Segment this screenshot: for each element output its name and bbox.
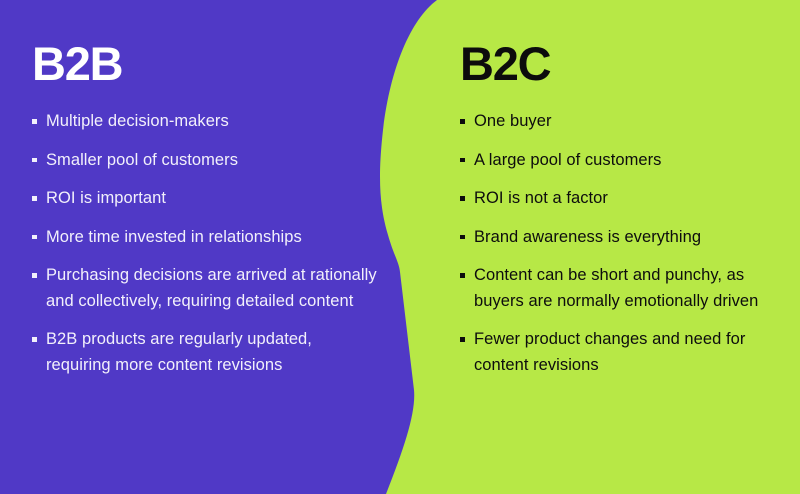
square-bullet-icon (32, 273, 37, 278)
list-item: Purchasing decisions are arrived at rati… (32, 263, 380, 314)
list-item: More time invested in relationships (32, 225, 380, 251)
list-item: Multiple decision-makers (32, 109, 380, 135)
b2b-panel: B2B Multiple decision-makers Smaller poo… (0, 0, 380, 494)
list-item-label: Multiple decision-makers (46, 112, 229, 130)
list-item: A large pool of customers (460, 148, 780, 174)
square-bullet-icon (32, 119, 37, 124)
list-item: One buyer (460, 109, 780, 135)
list-item-label: Content can be short and punchy, as buye… (474, 266, 758, 310)
list-item: Content can be short and punchy, as buye… (460, 263, 780, 314)
square-bullet-icon (460, 337, 465, 342)
list-item-label: Purchasing decisions are arrived at rati… (46, 266, 377, 310)
list-item: Smaller pool of customers (32, 148, 380, 174)
list-item-label: One buyer (474, 112, 552, 130)
square-bullet-icon (460, 235, 465, 240)
square-bullet-icon (32, 235, 37, 240)
list-item-label: Smaller pool of customers (46, 151, 238, 169)
b2c-title: B2C (460, 40, 780, 87)
infographic-canvas: B2B Multiple decision-makers Smaller poo… (0, 0, 800, 494)
b2c-bullet-list: One buyer A large pool of customers ROI … (460, 109, 780, 378)
list-item: ROI is not a factor (460, 186, 780, 212)
square-bullet-icon (460, 158, 465, 163)
square-bullet-icon (460, 119, 465, 124)
list-item: Fewer product changes and need for conte… (460, 327, 780, 378)
list-item-label: Fewer product changes and need for conte… (474, 330, 745, 374)
square-bullet-icon (460, 196, 465, 201)
list-item: Brand awareness is everything (460, 225, 780, 251)
list-item-label: ROI is important (46, 189, 166, 207)
square-bullet-icon (32, 337, 37, 342)
square-bullet-icon (32, 158, 37, 163)
square-bullet-icon (460, 273, 465, 278)
b2c-panel: B2C One buyer A large pool of customers … (460, 0, 780, 494)
list-item-label: A large pool of customers (474, 151, 661, 169)
b2b-bullet-list: Multiple decision-makers Smaller pool of… (32, 109, 380, 378)
list-item-label: More time invested in relationships (46, 228, 302, 246)
list-item: ROI is important (32, 186, 380, 212)
list-item-label: ROI is not a factor (474, 189, 608, 207)
list-item: B2B products are regularly updated, requ… (32, 327, 380, 378)
square-bullet-icon (32, 196, 37, 201)
b2b-title: B2B (32, 40, 380, 87)
list-item-label: B2B products are regularly updated, requ… (46, 330, 312, 374)
list-item-label: Brand awareness is everything (474, 228, 701, 246)
